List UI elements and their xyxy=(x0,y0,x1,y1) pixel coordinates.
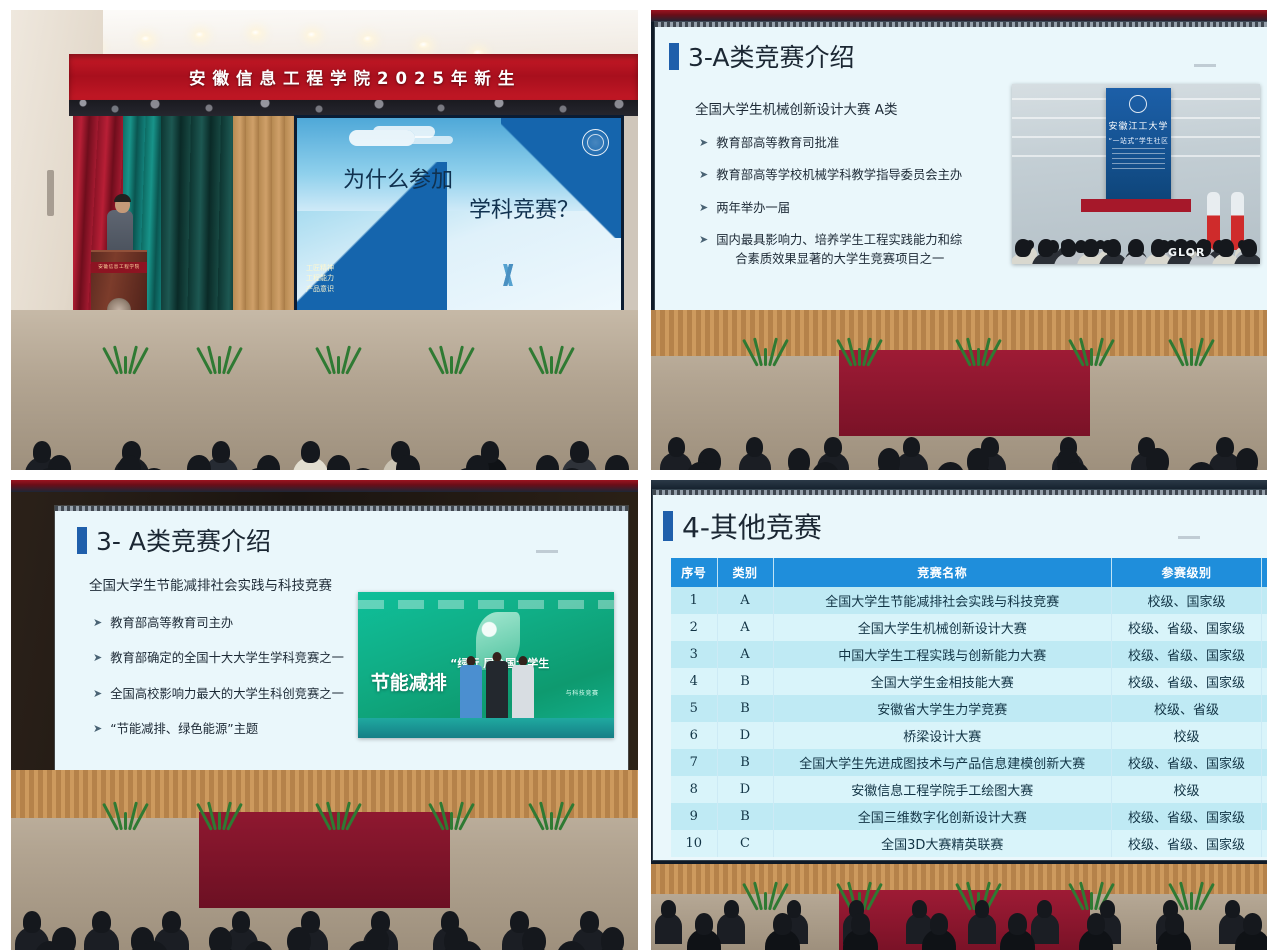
cell-truncated xyxy=(1262,587,1267,614)
audience-member-head xyxy=(522,927,546,950)
cell-name: 全国大学生先进成图技术与产品信息建模创新大赛 xyxy=(773,749,1112,776)
audience-member-head xyxy=(1087,913,1106,935)
list-item: ➤ 教育部高等学校机械学科教学指导委员会主办 xyxy=(699,166,994,184)
slide-lead-text: 全国大学生机械创新设计大赛 A类 xyxy=(695,98,898,118)
ceiling-light xyxy=(419,42,430,49)
top-dark-band xyxy=(11,480,638,492)
slide-edge-noise xyxy=(655,22,1267,27)
person-left xyxy=(460,656,482,718)
competition-table: 序号 类别 竞赛名称 参赛级别 1A全国大学生节能减排社会实践与科技竞赛校级、国… xyxy=(671,558,1267,857)
title-dash-decor xyxy=(1194,64,1216,67)
table-row: 9B全国三维数字化创新设计大赛校级、省级、国家级 xyxy=(671,803,1267,830)
cell-truncated xyxy=(1262,776,1267,803)
table-row: 7B全国大学生先进成图技术与产品信息建模创新大赛校级、省级、国家级 xyxy=(671,749,1267,776)
footer-line-2: 工程能力 xyxy=(306,273,334,284)
cell-no: 5 xyxy=(671,695,717,722)
audience-member-head xyxy=(1243,913,1262,935)
audience-member-head xyxy=(746,437,763,457)
crowd-member-head xyxy=(1061,239,1077,257)
crowd-member-head xyxy=(1083,239,1099,257)
slide-lead-text: 全国大学生节能减排社会实践与科技竞赛 xyxy=(89,574,332,594)
person-body xyxy=(486,661,508,718)
person-body xyxy=(512,665,534,718)
audience-member-head xyxy=(348,468,378,470)
audience-silhouettes xyxy=(11,310,638,470)
arrow-bullet-icon: ➤ xyxy=(93,685,102,703)
audience-member-head xyxy=(92,911,111,933)
cell-level: 校级、省级、国家级 xyxy=(1112,614,1262,641)
audience-member-head xyxy=(788,448,810,470)
crowd xyxy=(1012,84,1260,264)
audience-member-head xyxy=(1008,913,1027,935)
table-body: 1A全国大学生节能减排社会实践与科技竞赛校级、国家级2A全国大学生机械创新设计大… xyxy=(671,587,1267,857)
slide-edge-noise xyxy=(653,490,1267,495)
cell-name: 全国大学生节能减排社会实践与科技竞赛 xyxy=(773,587,1112,614)
slide-surface: 4-其他竞赛 序号 类别 竞赛名称 参赛级别 1A全国大学生节能减排社会实践与科 xyxy=(653,490,1267,860)
list-item: ➤ 教育部高等教育司主办 xyxy=(93,614,383,632)
cell-name: 全国3D大赛精英联赛 xyxy=(773,830,1112,857)
audience-member-head xyxy=(661,900,676,917)
cell-truncated xyxy=(1262,830,1267,857)
cell-name: 安徽省大学生力学竞赛 xyxy=(773,695,1112,722)
cell-no: 3 xyxy=(671,641,717,668)
cell-no: 6 xyxy=(671,722,717,749)
cell-level: 校级 xyxy=(1112,776,1262,803)
audience-member-head xyxy=(903,437,920,457)
slide-title-text: 4-其他竞赛 xyxy=(682,506,822,546)
top-dark-band xyxy=(651,480,1267,490)
crowd-member-head xyxy=(1241,239,1257,257)
ceiling-light xyxy=(141,36,152,43)
audience-member-head xyxy=(212,441,231,463)
audience-member-head xyxy=(605,455,629,470)
ceiling-light xyxy=(363,36,374,43)
backdrop-text-sub: 与科技竞赛 xyxy=(566,688,599,697)
audience-member-head xyxy=(824,437,841,457)
person-center xyxy=(486,652,508,718)
cell-category: D xyxy=(717,776,773,803)
banner-top-decor xyxy=(69,100,638,116)
audience-member-head xyxy=(536,455,560,470)
audience-foreground xyxy=(11,770,638,950)
photo-collage: 安徽信息工程学院2025年新生 为什么参加 学科竞赛？ 工匠精神 工程能力 产品… xyxy=(0,0,1267,950)
list-item: ➤ 教育部确定的全国十大大学生学科竞赛之一 xyxy=(93,649,383,667)
table-row: 4B全国大学生金相技能大赛校级、省级、国家级 xyxy=(671,668,1267,695)
audience-member-head xyxy=(695,913,714,935)
col-header-name: 竞赛名称 xyxy=(773,558,1112,587)
audience-member-head xyxy=(232,911,251,933)
table-row: 8D安徽信息工程学院手工绘图大赛校级 xyxy=(671,776,1267,803)
audience-member-head xyxy=(975,900,990,917)
slide-title: 3-A类竞赛介绍 xyxy=(669,38,854,74)
slide-surface: 3- A类竞赛介绍 全国大学生节能减排社会实践与科技竞赛 ➤ 教育部高等教育司主… xyxy=(55,506,628,772)
projected-slide-heading: 为什么参加 学科竞赛？ xyxy=(343,166,593,225)
title-accent-bar xyxy=(663,511,673,541)
cell-no: 8 xyxy=(671,776,717,803)
audience-member-head xyxy=(1225,900,1240,917)
audience-member-head xyxy=(930,913,949,935)
arrow-bullet-icon: ➤ xyxy=(93,649,102,667)
embedded-energy-photo: “绿行 届全国大学生 节能减排 与科技竞赛 xyxy=(358,592,614,738)
shirt-text: GLOR xyxy=(1168,246,1205,259)
audience-member-head xyxy=(668,437,685,457)
person-body xyxy=(460,665,482,718)
arrow-bullet-icon: ➤ xyxy=(699,231,708,268)
photo-slide-mechanical: 3-A类竞赛介绍 全国大学生机械创新设计大赛 A类 ➤ 教育部高等教育司批准 ➤… xyxy=(651,10,1267,470)
backdrop-logo-strip xyxy=(358,600,614,609)
audience-member-head xyxy=(327,455,351,470)
crowd-member-head xyxy=(1038,239,1054,257)
audience-member-head xyxy=(187,455,211,470)
title-dash-decor xyxy=(1178,536,1200,539)
university-seal-icon xyxy=(582,129,609,156)
competition-table-wrap: 序号 类别 竞赛名称 参赛级别 1A全国大学生节能减排社会实践与科技竞赛校级、国… xyxy=(671,558,1267,857)
event-banner: 安徽信息工程学院2025年新生 xyxy=(69,54,638,100)
cell-no: 10 xyxy=(671,830,717,857)
audience-foreground xyxy=(11,310,638,470)
audience-silhouettes xyxy=(651,310,1267,470)
photo-auditorium-wide: 安徽信息工程学院2025年新生 为什么参加 学科竞赛？ 工匠精神 工程能力 产品… xyxy=(11,10,638,470)
podium-nameplate: 安徽信息工程学院 xyxy=(91,262,147,273)
cell-name: 全国大学生金相技能大赛 xyxy=(773,668,1112,695)
list-item-text: “节能减排、绿色能源”主题 xyxy=(110,720,258,738)
title-accent-bar xyxy=(77,527,87,554)
audience-member-head xyxy=(1216,437,1233,457)
cell-category: A xyxy=(717,614,773,641)
list-item-text: 国内最具影响力、培养学生工程实践能力和综 xyxy=(716,233,962,247)
crowd-member-head xyxy=(1106,239,1122,257)
cell-level: 校级、国家级 xyxy=(1112,587,1262,614)
list-item-text: 两年举办一届 xyxy=(716,199,790,217)
list-item-text: 全国高校影响力最大的大学生科创竞赛之一 xyxy=(110,685,344,703)
cell-name: 安徽信息工程学院手工绘图大赛 xyxy=(773,776,1112,803)
skier-graphic xyxy=(493,264,523,286)
bullet-list: ➤ 教育部高等教育司主办 ➤ 教育部确定的全国十大大学生学科竞赛之一 ➤ 全国高… xyxy=(93,614,383,753)
arrow-bullet-icon: ➤ xyxy=(699,199,708,217)
footer-line-3: 产品意识 xyxy=(306,284,334,295)
cell-level: 校级、省级、国家级 xyxy=(1112,641,1262,668)
audience-member-head xyxy=(967,448,989,470)
cell-category: B xyxy=(717,803,773,830)
cell-no: 1 xyxy=(671,587,717,614)
slide-title-text: 3-A类竞赛介绍 xyxy=(688,38,854,74)
photo-slide-table: 4-其他竞赛 序号 类别 竞赛名称 参赛级别 1A全国大学生节能减排社会实践与科 xyxy=(651,480,1267,950)
audience-member-head xyxy=(570,441,589,463)
audience-member-head xyxy=(301,441,320,463)
slide-cloud xyxy=(349,130,415,146)
projected-slide-footer: 工匠精神 工程能力 产品意识 xyxy=(306,263,334,295)
audience-member-head xyxy=(601,927,625,950)
table-row: 5B安徽省大学生力学竞赛校级、省级 xyxy=(671,695,1267,722)
podium-nameplate-text: 安徽信息工程学院 xyxy=(91,262,147,273)
cell-category: B xyxy=(717,695,773,722)
footer-line-1: 工匠精神 xyxy=(306,263,334,274)
audience-member-head xyxy=(936,462,965,470)
arrow-bullet-icon: ➤ xyxy=(93,614,102,632)
list-item: ➤ “节能减排、绿色能源”主题 xyxy=(93,720,383,738)
slide-surface: 3-A类竞赛介绍 全国大学生机械创新设计大赛 A类 ➤ 教育部高等教育司批准 ➤… xyxy=(655,22,1267,310)
list-item: ➤ 两年举办一届 xyxy=(699,199,994,217)
col-header-level: 参赛级别 xyxy=(1112,558,1262,587)
ceiling-light xyxy=(251,30,262,37)
arrow-bullet-icon: ➤ xyxy=(699,166,708,184)
cell-level: 校级、省级、国家级 xyxy=(1112,830,1262,857)
crowd-member-head xyxy=(1128,239,1144,257)
cell-level: 校级、省级、国家级 xyxy=(1112,803,1262,830)
slide-title: 3- A类竞赛介绍 xyxy=(77,522,271,558)
slide-title: 4-其他竞赛 xyxy=(663,506,822,546)
ceiling-light xyxy=(195,32,206,39)
list-item-text: 教育部高等学校机械学科教学指导委员会主办 xyxy=(716,166,962,184)
audience-member-head xyxy=(33,441,52,463)
audience-member-head xyxy=(1037,900,1052,917)
cell-category: A xyxy=(717,641,773,668)
slide-edge-noise xyxy=(55,506,628,511)
cell-no: 4 xyxy=(671,668,717,695)
cell-no: 2 xyxy=(671,614,717,641)
cell-category: B xyxy=(717,749,773,776)
cell-name: 中国大学生工程实践与创新能力大赛 xyxy=(773,641,1112,668)
audience-member-head xyxy=(162,911,181,933)
cell-name: 桥梁设计大赛 xyxy=(773,722,1112,749)
table-row: 10C全国3D大赛精英联赛校级、省级、国家级 xyxy=(671,830,1267,857)
audience-member-head xyxy=(1146,448,1168,470)
audience-member-head xyxy=(912,900,927,917)
cell-category: B xyxy=(717,668,773,695)
speaker-hair xyxy=(114,194,131,202)
projected-slide: 为什么参加 学科竞赛？ 工匠精神 工程能力 产品意识 xyxy=(297,118,621,312)
list-item: ➤ 全国高校影响力最大的大学生科创竞赛之一 xyxy=(93,685,383,703)
cell-name: 全国大学生机械创新设计大赛 xyxy=(773,614,1112,641)
audience-member-head xyxy=(1165,913,1184,935)
audience-member-head xyxy=(724,900,739,917)
cell-level: 校级、省级、国家级 xyxy=(1112,749,1262,776)
cell-level: 校级 xyxy=(1112,722,1262,749)
list-item-text-wrap: 国内最具影响力、培养学生工程实践能力和综 合素质效果显著的大学生竞赛项目之一 xyxy=(716,231,962,268)
audience-member-head xyxy=(878,448,900,470)
cell-truncated xyxy=(1262,668,1267,695)
heading-line-2: 学科竞赛？ xyxy=(343,196,593,226)
title-dash-decor xyxy=(536,550,558,553)
cell-truncated xyxy=(1262,749,1267,776)
list-item: ➤ 国内最具影响力、培养学生工程实践能力和综 合素质效果显著的大学生竞赛项目之一 xyxy=(699,231,994,268)
table-header-row: 序号 类别 竞赛名称 参赛级别 xyxy=(671,558,1267,587)
table-row: 2A全国大学生机械创新设计大赛校级、省级、国家级 xyxy=(671,614,1267,641)
arrow-bullet-icon: ➤ xyxy=(93,720,102,738)
slide-title-text: 3- A类竞赛介绍 xyxy=(96,522,271,558)
audience-foreground xyxy=(651,864,1267,950)
list-item-text: 教育部高等教育司批准 xyxy=(716,134,839,152)
embedded-campus-photo: 安徽江工大学 “一站式”学生社区 GLOR xyxy=(1012,84,1260,264)
cell-level: 校级、省级 xyxy=(1112,695,1262,722)
cell-no: 7 xyxy=(671,749,717,776)
cell-level: 校级、省级、国家级 xyxy=(1112,668,1262,695)
crowd-member-head xyxy=(1151,239,1167,257)
cell-truncated xyxy=(1262,641,1267,668)
stage-floor xyxy=(358,718,614,738)
cell-category: A xyxy=(717,587,773,614)
audience-member-head xyxy=(773,913,792,935)
cell-truncated xyxy=(1262,695,1267,722)
audience-member-head xyxy=(1236,448,1258,470)
projector-screen: 为什么参加 学科竞赛？ 工匠精神 工程能力 产品意识 xyxy=(294,115,624,315)
col-header-no: 序号 xyxy=(671,558,717,587)
crowd-member-head xyxy=(1015,239,1031,257)
cell-truncated xyxy=(1262,614,1267,641)
list-item-text: 教育部高等教育司主办 xyxy=(110,614,233,632)
ceiling-light xyxy=(307,32,318,39)
top-dark-band xyxy=(651,10,1267,22)
list-item: ➤ 教育部高等教育司批准 xyxy=(699,134,994,152)
audience-silhouettes xyxy=(11,770,638,950)
audience-member-head xyxy=(580,911,599,933)
event-banner-text: 安徽信息工程学院2025年新生 xyxy=(189,65,521,89)
table-row: 3A中国大学生工程实践与创新能力大赛校级、省级、国家级 xyxy=(671,641,1267,668)
table-row: 1A全国大学生节能减排社会实践与科技竞赛校级、国家级 xyxy=(671,587,1267,614)
table-row: 6D桥梁设计大赛校级 xyxy=(671,722,1267,749)
col-header-category: 类别 xyxy=(717,558,773,587)
audience-member-head xyxy=(287,927,311,950)
audience-member-head xyxy=(23,911,42,933)
title-accent-bar xyxy=(669,43,679,70)
person-right xyxy=(512,656,534,718)
cell-truncated xyxy=(1262,722,1267,749)
cell-truncated xyxy=(1262,803,1267,830)
cell-category: C xyxy=(717,830,773,857)
cell-name: 全国三维数字化创新设计大赛 xyxy=(773,803,1112,830)
audience-member-head xyxy=(851,913,870,935)
heading-line-1: 为什么参加 xyxy=(343,168,453,193)
bullet-list: ➤ 教育部高等教育司批准 ➤ 教育部高等学校机械学科教学指导委员会主办 ➤ 两年… xyxy=(699,134,994,282)
crowd-member-head xyxy=(1218,239,1234,257)
arrow-bullet-icon: ➤ xyxy=(699,134,708,152)
photo-slide-energy: 3- A类竞赛介绍 全国大学生节能减排社会实践与科技竞赛 ➤ 教育部高等教育司主… xyxy=(11,480,638,950)
backdrop-text-main: 节能减排 xyxy=(371,668,447,695)
audience-member-head xyxy=(396,455,420,470)
list-item-text-continued: 合素质效果显著的大学生竞赛项目之一 xyxy=(716,250,962,268)
col-header-truncated xyxy=(1262,558,1267,587)
list-item-text: 教育部确定的全国十大大学生学科竞赛之一 xyxy=(110,649,344,667)
cell-no: 9 xyxy=(671,803,717,830)
audience-foreground xyxy=(651,310,1267,470)
audience-silhouettes xyxy=(651,864,1267,950)
cell-category: D xyxy=(717,722,773,749)
